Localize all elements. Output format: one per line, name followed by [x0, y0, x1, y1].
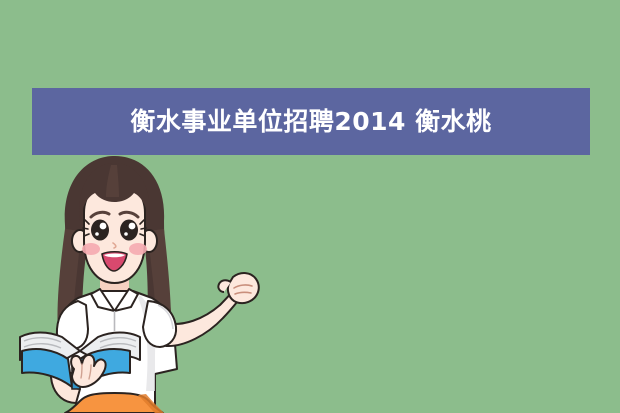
blush-left	[82, 243, 100, 255]
page-title: 衡水事业单位招聘2014 衡水桃	[130, 109, 491, 134]
blush-right	[129, 243, 147, 255]
sleeve-right	[143, 301, 176, 347]
cartoon-woman-illustration	[18, 155, 278, 413]
title-banner: 衡水事业单位招聘2014 衡水桃	[32, 88, 590, 155]
eye-right	[120, 220, 138, 241]
image-canvas: 衡水事业单位招聘2014 衡水桃	[0, 0, 620, 413]
eye-left	[91, 220, 109, 241]
hand-open	[228, 273, 259, 303]
